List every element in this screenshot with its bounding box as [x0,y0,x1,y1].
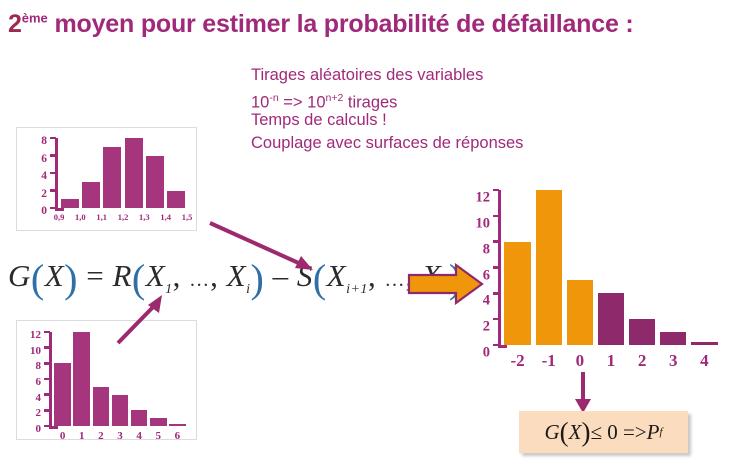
result-close-paren: ) [581,417,590,448]
slide-canvas: 2ème moyen pour estimer la probabilité d… [0,0,731,467]
formula-equals: = [78,258,112,293]
notes-line-3: Temps de calculs ! [251,109,523,132]
plot-area-top-left: 024680,91,01,11,21,31,41,5 [59,138,187,208]
bar [146,156,164,209]
bar [61,199,79,208]
histogram-right: 024681012-2-101234 [460,178,728,358]
y-tick-mark [44,362,50,365]
title-superscript: ème [22,11,48,26]
result-g: G [544,420,559,445]
y-tick-label: 12 [7,329,41,341]
y-tick-mark [44,409,50,412]
result-sub-f: f [659,426,662,438]
formula-xi1: X [327,258,346,293]
y-tick-label: 8 [13,135,47,147]
y-tick-mark [44,393,50,396]
formula-comma-3: , [368,258,385,293]
result-open-paren: ( [560,417,569,448]
y-tick-label: 2 [7,407,41,419]
arrow-down-icon [572,372,594,414]
y-tick-mark [44,378,50,381]
notes-line-4: Couplage avec surfaces de réponses [251,132,523,155]
x-tick-label: 1,5 [165,212,209,222]
bar [131,410,147,426]
notes-line2-sup1: -n [269,92,278,104]
formula-close-paren-1: ) [64,256,78,301]
bar [103,147,121,208]
diagonal-arrow-up-right-icon [112,291,174,347]
result-box: G(X) ≤ 0 => Pf [519,411,688,453]
y-tick-label: 0 [7,423,41,435]
bar [125,138,143,208]
y-tick-label: 4 [13,170,47,182]
y-tick-mark [50,189,56,192]
x-axis-line [498,345,507,348]
y-tick-mark [44,331,50,334]
formula-r: R [112,258,131,293]
formula-open-paren-1: ( [31,256,45,301]
result-x: X [569,420,582,445]
page-title: 2ème moyen pour estimer la probabilité d… [8,10,634,39]
result-condition: ≤ 0 => [590,420,646,445]
formula-x: X [45,258,64,293]
bar [112,395,128,426]
diagonal-arrow-down-right-icon [205,218,320,276]
y-tick-mark [50,154,56,157]
x-axis-line [55,208,64,211]
bar [73,332,89,426]
y-tick-label: 10 [456,215,490,232]
y-tick-mark [493,266,499,269]
y-tick-mark [493,240,499,243]
notes-line-2: 10-n => 10n+2 tirages [251,87,523,110]
formula-x1: X [146,258,165,293]
y-tick-label: 12 [456,190,490,207]
bar [93,387,109,426]
bar [169,424,185,426]
y-tick-mark [44,346,50,349]
notes-line-1: Tirages aléatoires des variables [251,64,523,87]
bar [629,319,655,345]
title-number: 2 [8,10,22,38]
y-tick-label: 8 [7,360,41,372]
bar [598,293,624,345]
y-tick-mark [50,172,56,175]
right-block-arrow-icon [407,262,485,306]
y-tick-mark [493,318,499,321]
formula-ellipsis-2: … [384,269,405,291]
y-tick-label: 2 [456,319,490,336]
x-axis-line [49,426,58,429]
histogram-top-left: 024680,91,01,11,21,31,41,5 [16,127,197,231]
y-tick-mark [493,292,499,295]
bar [167,191,185,209]
y-tick-label: 2 [13,188,47,200]
y-tick-label: 0 [456,345,490,362]
formula-sub-i1: i+1 [346,282,368,297]
notes-line2-sup2: n+2 [326,92,344,104]
bar [82,182,100,208]
title-rest: moyen pour estimer la probabilité de déf… [48,10,634,38]
formula-g: G [8,258,31,293]
bar [567,280,593,345]
bar [660,332,686,345]
y-tick-label: 6 [7,376,41,388]
y-tick-label: 10 [7,345,41,357]
x-tick-label: 6 [155,430,199,442]
y-tick-mark [50,137,56,140]
bar [536,190,562,345]
y-tick-label: 6 [13,153,47,165]
formula-comma-1: , [173,258,190,293]
y-tick-label: 4 [7,392,41,404]
plot-area-right: 024681012-2-101234 [502,190,720,345]
bar [54,363,70,426]
y-tick-mark [493,215,499,218]
bar [504,242,530,345]
bar [150,418,166,426]
notes-block: Tirages aléatoires des variables 10-n =>… [251,64,523,154]
y-tick-mark [493,189,499,192]
bar [691,342,717,345]
result-p: P [647,420,660,445]
x-tick-label: 4 [682,351,726,371]
